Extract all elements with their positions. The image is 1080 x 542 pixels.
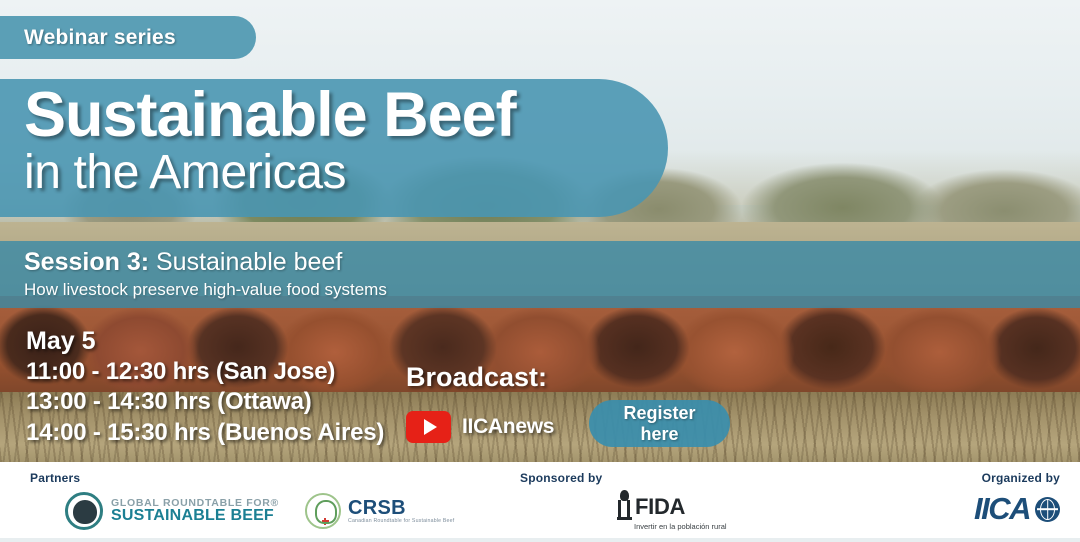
grsb-wordmark: GLOBAL ROUNDTABLE FOR® SUSTAINABLE BEEF xyxy=(111,498,279,525)
page-subtitle: in the Americas xyxy=(24,147,668,199)
hero-title-panel: Sustainable Beef in the Americas xyxy=(0,79,668,217)
broadcast-channel-row[interactable]: IICAnews xyxy=(406,411,554,443)
session-description: How livestock preserve high-value food s… xyxy=(24,280,1080,300)
grsb-name-bottom: SUSTAINABLE BEEF xyxy=(111,508,279,524)
broadcast-block: Broadcast: IICAnews xyxy=(406,362,554,443)
page-title: Sustainable Beef xyxy=(24,85,668,147)
maple-cross-icon xyxy=(322,518,329,525)
partners-label: Partners xyxy=(30,471,454,485)
broadcast-channel-name: IICAnews xyxy=(462,415,554,439)
session-band: Session 3: Sustainable beef How livestoc… xyxy=(0,241,1080,308)
register-button-line1: Register xyxy=(623,403,695,423)
iica-globe-icon xyxy=(1035,497,1060,522)
broadcast-label: Broadcast: xyxy=(406,362,554,393)
schedule-block: May 5 11:00 - 12:30 hrs (San Jose) 13:00… xyxy=(26,326,384,449)
fida-logo: FIDA Invertir en la población rural xyxy=(616,490,727,531)
event-time-ottawa: 13:00 - 14:30 hrs (Ottawa) xyxy=(26,387,384,418)
session-title-line: Session 3: Sustainable beef xyxy=(24,248,1080,277)
footer-bar: Partners GLOBAL ROUNDTABLE FOR® SUSTAINA… xyxy=(0,462,1080,542)
register-button-line2: here xyxy=(640,424,678,444)
organizer-column: Organized by IICA xyxy=(974,471,1060,527)
event-date: May 5 xyxy=(26,326,384,357)
webinar-poster: Webinar series Sustainable Beef in the A… xyxy=(0,0,1080,542)
crsb-logo: CRSB Canadian Roundtable for Sustainable… xyxy=(305,493,454,529)
event-time-buenos-aires: 14:00 - 15:30 hrs (Buenos Aires) xyxy=(26,418,384,449)
fida-tagline: Invertir en la población rural xyxy=(634,522,727,531)
play-triangle-icon xyxy=(424,419,437,435)
webinar-series-label: Webinar series xyxy=(24,26,176,50)
sponsor-column: Sponsored by FIDA Invertir en la poblaci… xyxy=(520,471,727,531)
session-topic: Sustainable beef xyxy=(149,248,342,276)
organized-by-label: Organized by xyxy=(974,471,1060,485)
partners-column: Partners GLOBAL ROUNDTABLE FOR® SUSTAINA… xyxy=(30,471,454,530)
webinar-series-badge: Webinar series xyxy=(0,16,256,59)
crsb-cow-circle-icon xyxy=(305,493,341,529)
sponsored-by-label: Sponsored by xyxy=(520,471,727,485)
fida-wordmark-row: FIDA xyxy=(616,490,685,520)
fida-mark-icon xyxy=(616,490,633,520)
partner-logos: GLOBAL ROUNDTABLE FOR® SUSTAINABLE BEEF … xyxy=(65,492,454,530)
iica-name: IICA xyxy=(974,491,1030,527)
session-number: Session 3: xyxy=(24,248,149,276)
grsb-logo: GLOBAL ROUNDTABLE FOR® SUSTAINABLE BEEF xyxy=(65,492,279,530)
youtube-play-icon[interactable] xyxy=(406,411,451,443)
event-time-san-jose: 11:00 - 12:30 hrs (San Jose) xyxy=(26,357,384,388)
crsb-name-top: CRSB xyxy=(348,498,454,519)
crsb-name-bottom: Canadian Roundtable for Sustainable Beef xyxy=(348,519,454,524)
fida-name: FIDA xyxy=(635,494,685,520)
iica-logo: IICA xyxy=(974,491,1060,527)
register-button[interactable]: Register here xyxy=(589,400,730,447)
crsb-wordmark: CRSB Canadian Roundtable for Sustainable… xyxy=(348,498,454,524)
grsb-cow-circle-icon xyxy=(65,492,103,530)
